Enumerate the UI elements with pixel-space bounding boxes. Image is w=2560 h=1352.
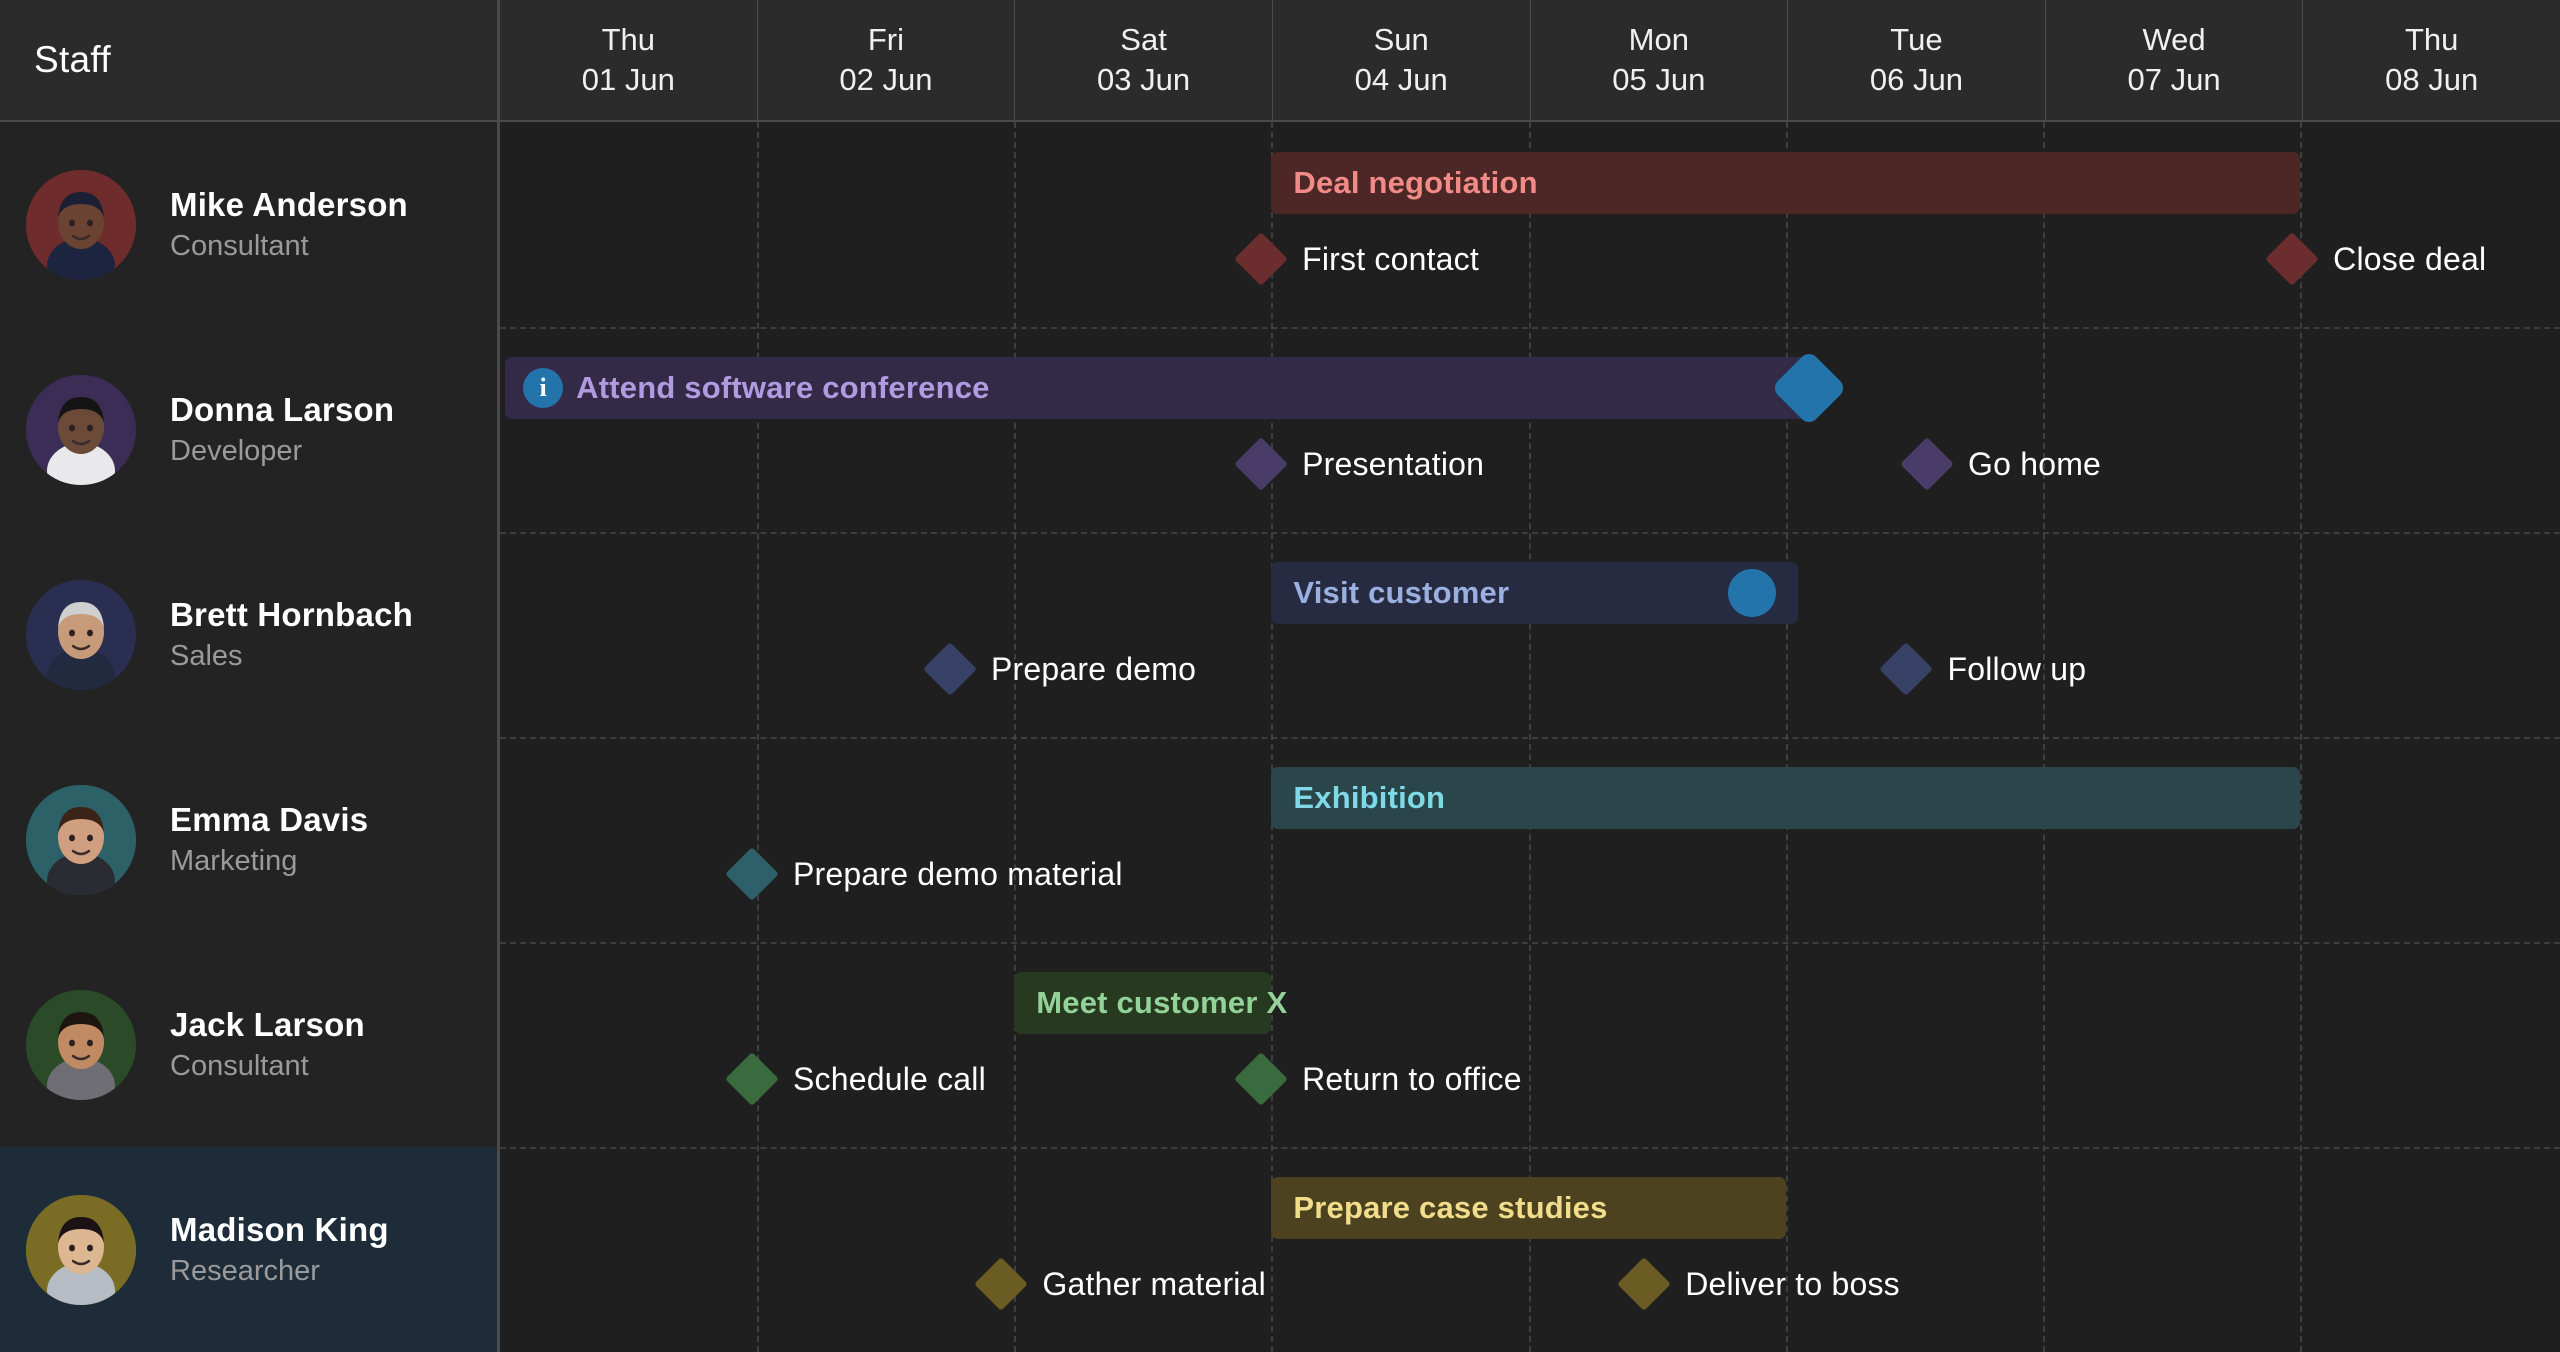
timeline-row: Meet customer XSchedule callReturn to of… [500, 942, 2560, 1147]
milestone-label: Return to office [1302, 1061, 1522, 1098]
day-date-label: 08 Jun [2385, 62, 2478, 98]
timeline-row: Deal negotiationFirst contactClose deal [500, 122, 2560, 327]
timeline-row: iAttend software conferencePresentationG… [500, 327, 2560, 532]
timeline-row: Prepare case studiesGather materialDeliv… [500, 1147, 2560, 1352]
gantt-milestone[interactable]: Return to office [1242, 1060, 1522, 1098]
timeline-day-header[interactable]: Wed07 Jun [2045, 0, 2303, 120]
avatar [26, 990, 136, 1100]
staff-panel-header: Staff [0, 0, 497, 122]
timeline-header-row: Thu01 JunFri02 JunSat03 JunSun04 JunMon0… [500, 0, 2560, 122]
gantt-task-bar-label: Prepare case studies [1293, 1190, 1607, 1226]
milestone-diamond-icon[interactable] [923, 642, 977, 696]
gantt-milestone[interactable]: Go home [1908, 445, 2101, 483]
info-icon[interactable]: i [523, 368, 563, 408]
staff-text: Brett HornbachSales [170, 596, 413, 673]
timeline-panel: Thu01 JunFri02 JunSat03 JunSun04 JunMon0… [500, 0, 2560, 1352]
day-date-label: 04 Jun [1355, 62, 1448, 98]
staff-name: Madison King [170, 1211, 389, 1249]
milestone-diamond-icon[interactable] [1234, 232, 1288, 286]
staff-name: Emma Davis [170, 801, 368, 839]
milestone-label: Prepare demo [991, 651, 1196, 688]
staff-row[interactable]: Mike AndersonConsultant [0, 122, 497, 327]
staff-text: Emma DavisMarketing [170, 801, 368, 878]
milestone-label: Follow up [1947, 651, 2086, 688]
staff-name: Donna Larson [170, 391, 394, 429]
staff-text: Jack LarsonConsultant [170, 1006, 365, 1083]
staff-role: Marketing [170, 845, 368, 878]
gantt-task-bar-label: Exhibition [1293, 780, 1445, 816]
day-of-week-label: Fri [868, 22, 904, 58]
gantt-task-bar-label: Visit customer [1293, 575, 1509, 611]
staff-role: Researcher [170, 1255, 389, 1288]
staff-row[interactable]: Emma DavisMarketing [0, 737, 497, 942]
milestone-diamond-icon[interactable] [1234, 437, 1288, 491]
milestone-label: First contact [1302, 241, 1479, 278]
day-of-week-label: Thu [2405, 22, 2458, 58]
avatar [26, 785, 136, 895]
day-of-week-label: Wed [2142, 22, 2205, 58]
staff-text: Madison KingResearcher [170, 1211, 389, 1288]
staff-row[interactable]: Jack LarsonConsultant [0, 942, 497, 1147]
staff-name: Jack Larson [170, 1006, 365, 1044]
staff-role: Developer [170, 435, 394, 468]
milestone-diamond-icon[interactable] [725, 847, 779, 901]
staff-name: Brett Hornbach [170, 596, 413, 634]
gantt-task-bar-label: Meet customer X [1036, 985, 1287, 1021]
milestone-diamond-icon[interactable] [1900, 437, 1954, 491]
milestone-diamond-icon[interactable] [2265, 232, 2319, 286]
timeline-body[interactable]: Deal negotiationFirst contactClose deali… [500, 122, 2560, 1352]
gantt-milestone[interactable]: Deliver to boss [1625, 1265, 1900, 1303]
staff-row[interactable]: Brett HornbachSales [0, 532, 497, 737]
milestone-diamond-icon[interactable] [1617, 1257, 1671, 1311]
gantt-task-bar[interactable]: Prepare case studies [1271, 1177, 1785, 1239]
gantt-milestone[interactable]: Prepare demo material [733, 855, 1123, 893]
timeline-day-header[interactable]: Thu01 Jun [500, 0, 757, 120]
gantt-task-bar-label: Deal negotiation [1293, 165, 1537, 201]
day-of-week-label: Tue [1890, 22, 1942, 58]
avatar [26, 1195, 136, 1305]
timeline-row: Visit customerPrepare demoFollow up [500, 532, 2560, 737]
gantt-chart-app: Staff Mike AndersonConsultantDonna Larso… [0, 0, 2560, 1352]
milestone-label: Gather material [1042, 1266, 1266, 1303]
milestone-label: Close deal [2333, 241, 2486, 278]
milestone-diamond-icon[interactable] [1880, 642, 1934, 696]
milestone-label: Presentation [1302, 446, 1484, 483]
staff-row[interactable]: Donna LarsonDeveloper [0, 327, 497, 532]
gantt-task-bar[interactable]: Visit customer [1271, 562, 1798, 624]
timeline-day-header[interactable]: Thu08 Jun [2302, 0, 2560, 120]
milestone-label: Schedule call [793, 1061, 986, 1098]
day-of-week-label: Mon [1629, 22, 1689, 58]
avatar [26, 375, 136, 485]
day-date-label: 03 Jun [1097, 62, 1190, 98]
gantt-task-bar-label: Attend software conference [576, 370, 989, 406]
milestone-diamond-icon[interactable] [975, 1257, 1029, 1311]
staff-row[interactable]: Madison KingResearcher [0, 1147, 497, 1352]
milestone-label: Prepare demo material [793, 856, 1123, 893]
timeline-day-header[interactable]: Tue06 Jun [1787, 0, 2045, 120]
day-of-week-label: Thu [602, 22, 655, 58]
timeline-day-header[interactable]: Fri02 Jun [757, 0, 1015, 120]
staff-panel: Staff Mike AndersonConsultantDonna Larso… [0, 0, 500, 1352]
day-date-label: 05 Jun [1612, 62, 1705, 98]
day-date-label: 01 Jun [582, 62, 675, 98]
timeline-day-header[interactable]: Mon05 Jun [1530, 0, 1788, 120]
staff-role: Consultant [170, 1050, 365, 1083]
gantt-task-bar[interactable]: iAttend software conference [505, 357, 1809, 419]
gantt-task-bar[interactable]: Deal negotiation [1271, 152, 2300, 214]
day-date-label: 02 Jun [839, 62, 932, 98]
timeline-row: ExhibitionPrepare demo material [500, 737, 2560, 942]
milestone-diamond-icon[interactable] [725, 1052, 779, 1106]
day-date-label: 07 Jun [2128, 62, 2221, 98]
gantt-milestone[interactable]: Close deal [2273, 240, 2486, 278]
staff-role: Sales [170, 640, 413, 673]
staff-role: Consultant [170, 230, 408, 263]
staff-list: Mike AndersonConsultantDonna LarsonDevel… [0, 122, 497, 1352]
gantt-milestone[interactable]: Gather material [982, 1265, 1266, 1303]
day-date-label: 06 Jun [1870, 62, 1963, 98]
timeline-task-rows: Deal negotiationFirst contactClose deali… [500, 122, 2560, 1352]
milestone-diamond-icon[interactable] [1234, 1052, 1288, 1106]
day-of-week-label: Sun [1374, 22, 1429, 58]
staff-text: Donna LarsonDeveloper [170, 391, 394, 468]
milestone-label: Deliver to boss [1685, 1266, 1900, 1303]
milestone-label: Go home [1968, 446, 2101, 483]
day-of-week-label: Sat [1120, 22, 1167, 58]
gantt-milestone[interactable]: Schedule call [733, 1060, 986, 1098]
gantt-milestone[interactable]: Presentation [1242, 445, 1484, 483]
avatar [26, 170, 136, 280]
gantt-task-bar[interactable]: Meet customer X [1014, 972, 1271, 1034]
avatar [26, 580, 136, 690]
timeline-day-header[interactable]: Sat03 Jun [1014, 0, 1272, 120]
staff-name: Mike Anderson [170, 186, 408, 224]
gantt-milestone[interactable]: First contact [1242, 240, 1479, 278]
staff-column-title: Staff [34, 39, 111, 81]
gantt-milestone[interactable]: Follow up [1887, 650, 2086, 688]
gantt-milestone[interactable]: Prepare demo [931, 650, 1196, 688]
gantt-task-bar[interactable]: Exhibition [1271, 767, 2300, 829]
staff-text: Mike AndersonConsultant [170, 186, 408, 263]
timeline-day-header[interactable]: Sun04 Jun [1272, 0, 1530, 120]
